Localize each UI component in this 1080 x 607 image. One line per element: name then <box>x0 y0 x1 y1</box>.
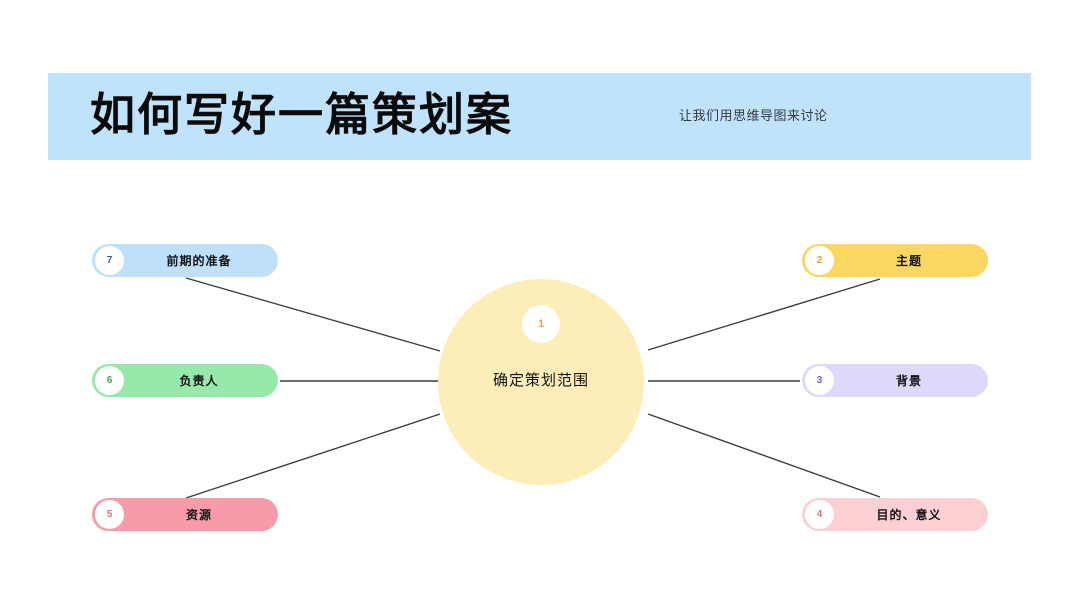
central-node[interactable]: 1 确定策划范围 <box>438 279 644 485</box>
branch-node-5[interactable]: 5 资源 <box>92 498 278 531</box>
branch-node-7[interactable]: 7 前期的准备 <box>92 244 278 277</box>
branch-node-2-badge: 2 <box>805 246 834 275</box>
branch-node-6-label: 负责人 <box>128 364 270 397</box>
branch-node-4-label: 目的、意义 <box>838 498 980 531</box>
central-node-badge: 1 <box>522 305 560 343</box>
branch-node-4[interactable]: 4 目的、意义 <box>802 498 988 531</box>
branch-node-3[interactable]: 3 背景 <box>802 364 988 397</box>
branch-node-7-badge: 7 <box>95 246 124 275</box>
connector-to-node-5 <box>186 414 440 498</box>
branch-node-5-badge: 5 <box>95 500 124 529</box>
branch-node-6-badge: 6 <box>95 366 124 395</box>
slide-canvas: 如何写好一篇策划案 让我们用思维导图来讨论 1 确定策划范围 2 主题 3 背景… <box>0 0 1080 607</box>
branch-node-7-label: 前期的准备 <box>128 244 270 277</box>
branch-node-6[interactable]: 6 负责人 <box>92 364 278 397</box>
connector-to-node-4 <box>648 414 880 497</box>
central-node-label: 确定策划范围 <box>438 369 644 390</box>
branch-node-5-label: 资源 <box>128 498 270 531</box>
branch-node-2[interactable]: 2 主题 <box>802 244 988 277</box>
branch-node-3-badge: 3 <box>805 366 834 395</box>
connector-to-node-2 <box>648 279 880 350</box>
branch-node-4-badge: 4 <box>805 500 834 529</box>
connector-to-node-7 <box>186 278 440 351</box>
branch-node-3-label: 背景 <box>838 364 980 397</box>
branch-node-2-label: 主题 <box>838 244 980 277</box>
